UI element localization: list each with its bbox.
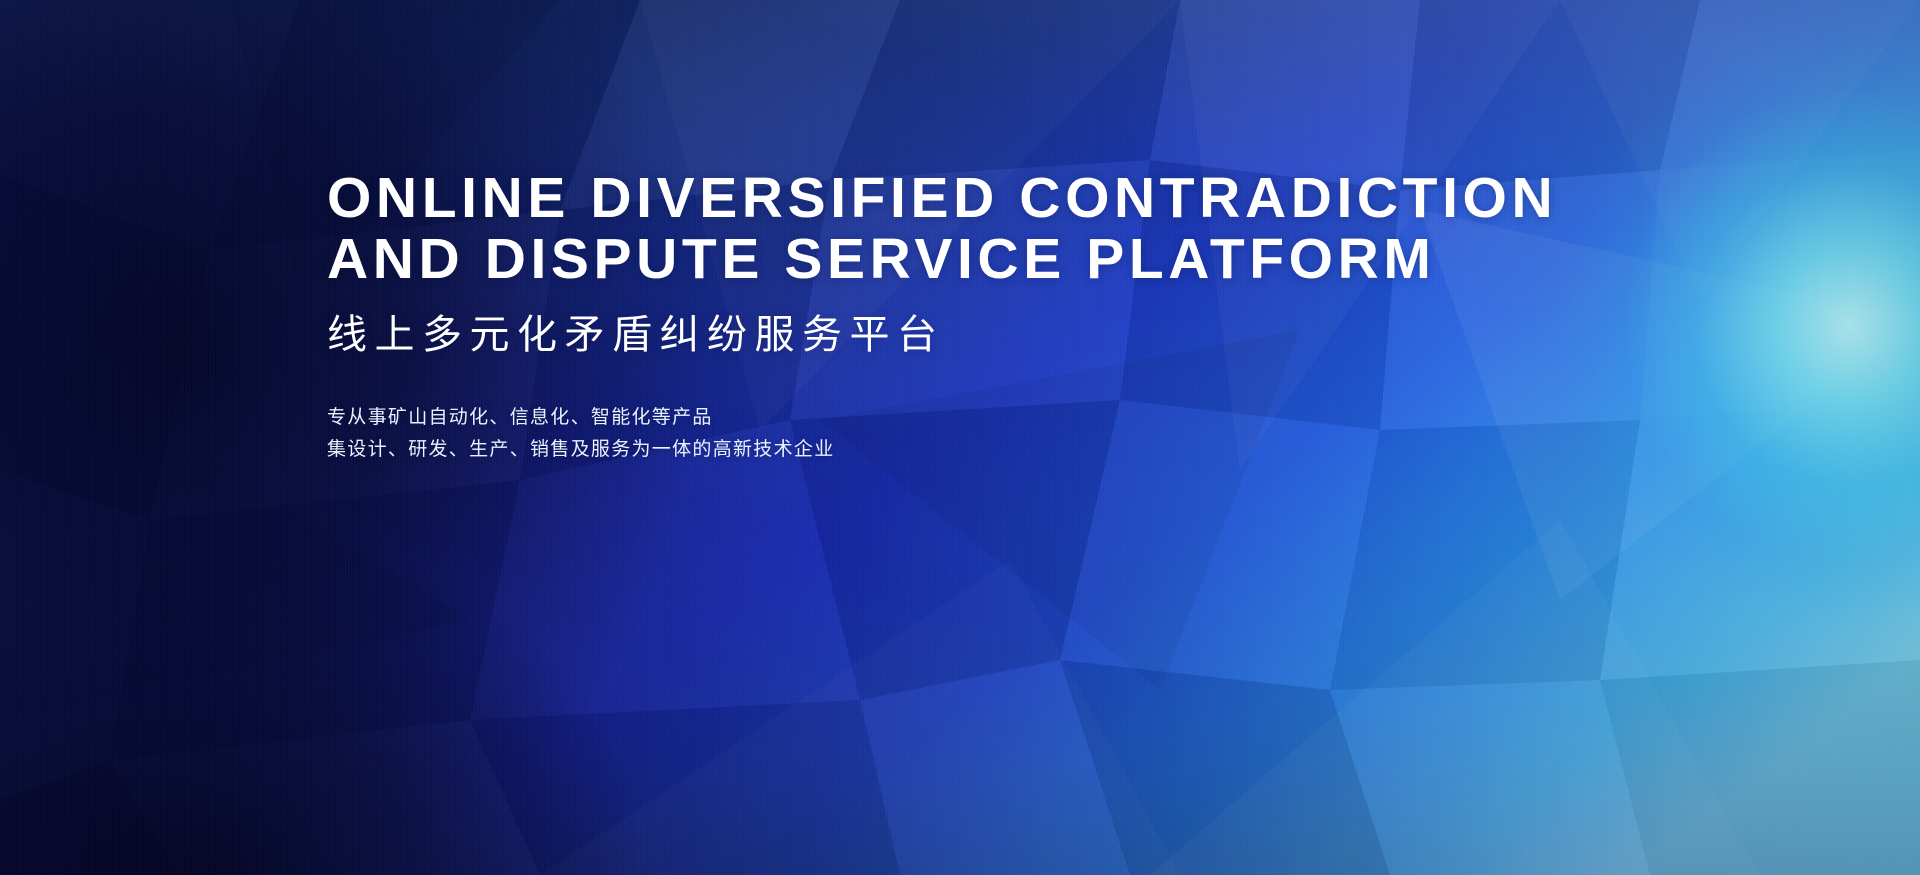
hero-description-line-2: 集设计、研发、生产、销售及服务为一体的高新技术企业 <box>327 434 1627 466</box>
hero-title-english-line2: AND DISPUTE SERVICE PLATFORM <box>327 229 1627 290</box>
hero-banner: ONLINE DIVERSIFIED CONTRADICTION AND DIS… <box>0 0 1920 875</box>
hero-content: ONLINE DIVERSIFIED CONTRADICTION AND DIS… <box>327 168 1627 466</box>
hero-title-english-line1: ONLINE DIVERSIFIED CONTRADICTION <box>327 168 1627 229</box>
hero-title-chinese: 线上多元化矛盾纠纷服务平台 <box>327 310 1627 360</box>
hero-description: 专从事矿山自动化、信息化、智能化等产品 集设计、研发、生产、销售及服务为一体的高… <box>327 402 1627 466</box>
hero-description-line-1: 专从事矿山自动化、信息化、智能化等产品 <box>327 402 1627 434</box>
